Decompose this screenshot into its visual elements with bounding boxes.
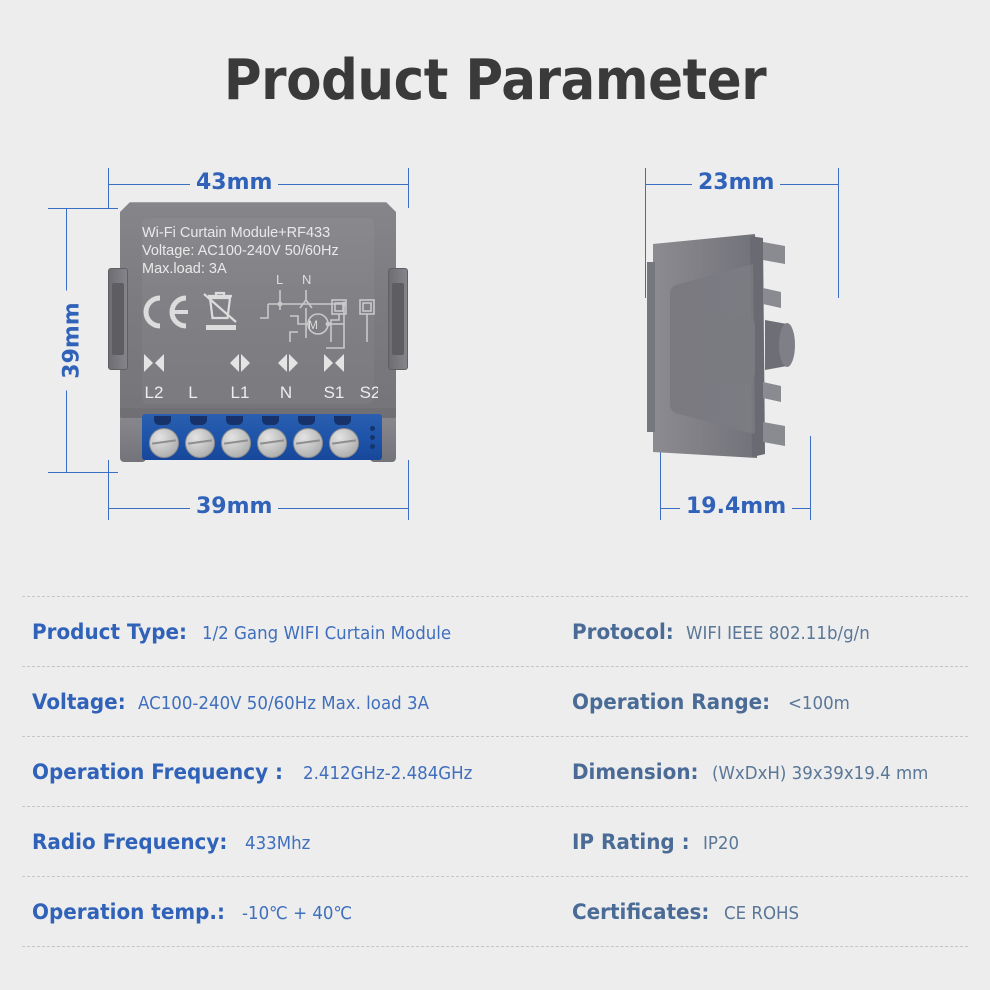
weee-bin-mark xyxy=(204,293,236,322)
spec-value: AC100-240V 50/60Hz Max. load 3A xyxy=(138,694,429,714)
dimension-label-43mm: 43mm xyxy=(190,170,278,195)
spec-value: WIFI IEEE 802.11b/g/n xyxy=(686,624,870,644)
spec-row: Product Type: 1/2 Gang WIFI Curtain Modu… xyxy=(22,596,968,666)
wire-slot xyxy=(334,416,351,425)
spec-key: Radio Frequency: xyxy=(32,830,227,854)
spec-table: Product Type: 1/2 Gang WIFI Curtain Modu… xyxy=(22,596,968,947)
side-housing-recess xyxy=(697,314,755,384)
mounting-clip-right xyxy=(388,268,408,370)
spec-key: Protocol: xyxy=(572,620,674,644)
clip-rail-left xyxy=(647,262,655,432)
spec-row: Operation Frequency : 2.412GHz-2.484GHz … xyxy=(22,736,968,806)
terminal-label-S2: S2 xyxy=(360,383,378,402)
spec-key: Dimension: xyxy=(572,760,699,784)
terminal-icon-close-S2 xyxy=(324,354,344,372)
spec-key: IP Rating : xyxy=(572,830,690,854)
wire-slot xyxy=(154,416,171,425)
spec-cell-operation-range: Operation Range: <100m xyxy=(564,690,968,714)
spec-key: Operation temp.: xyxy=(32,900,225,924)
dimension-label-23mm: 23mm xyxy=(692,170,780,195)
terminal-label-L1: L1 xyxy=(231,383,250,402)
mounting-tab-lower xyxy=(763,382,781,402)
terminal-screw xyxy=(293,428,323,458)
spec-cell-product-type: Product Type: 1/2 Gang WIFI Curtain Modu… xyxy=(22,620,564,644)
terminal-label-L: L xyxy=(188,383,197,402)
terminal-screw xyxy=(257,428,287,458)
mounting-tab-top xyxy=(763,242,785,264)
wire-slot xyxy=(226,416,243,425)
spec-value: <100m xyxy=(788,694,850,714)
dimension-extension-line xyxy=(408,460,409,520)
terminal-screw xyxy=(149,428,179,458)
wire-slot xyxy=(298,416,315,425)
spec-cell-ip-rating: IP Rating : IP20 xyxy=(564,830,968,854)
dimension-label-19-4mm: 19.4mm xyxy=(680,494,792,519)
schematic-label-motor: M xyxy=(308,318,318,332)
spec-key: Operation Frequency : xyxy=(32,760,283,784)
spec-row: Radio Frequency: 433Mhz IP Rating : IP20 xyxy=(22,806,968,876)
spec-key: Voltage: xyxy=(32,690,126,714)
wire-slot xyxy=(190,416,207,425)
spec-cell-voltage: Voltage: AC100-240V 50/60Hz Max. load 3A xyxy=(22,690,564,714)
spec-key: Operation Range: xyxy=(572,690,770,714)
spec-cell-certificates: Certificates: CE ROHS xyxy=(564,900,968,924)
terminal-block xyxy=(142,414,382,460)
terminal-icon-close-L2 xyxy=(144,354,164,372)
spec-cell-operation-frequency: Operation Frequency : 2.412GHz-2.484GHz xyxy=(22,760,564,784)
terminal-screw xyxy=(221,428,251,458)
dimension-label-39mm-width: 39mm xyxy=(190,494,278,519)
wire-slot xyxy=(262,416,279,425)
side-view xyxy=(645,202,845,492)
spec-cell-protocol: Protocol: WIFI IEEE 802.11b/g/n xyxy=(564,620,968,644)
terminal-stub-end xyxy=(779,323,795,367)
terminal-icon-open-S1 xyxy=(278,354,298,372)
terminal-label-N: N xyxy=(280,383,292,402)
spec-value: -10℃ + 40℃ xyxy=(242,904,352,924)
terminal-label-S1: S1 xyxy=(324,383,345,402)
spec-cell-radio-frequency: Radio Frequency: 433Mhz xyxy=(22,830,564,854)
spec-value: (WxDxH) 39x39x19.4 mm xyxy=(712,764,928,784)
mounting-clip-left xyxy=(108,268,128,370)
spec-cell-operation-temp: Operation temp.: -10℃ + 40℃ xyxy=(22,900,564,924)
spec-value: 433Mhz xyxy=(245,834,310,854)
label-line-model: Wi-Fi Curtain Module+RF433 xyxy=(142,224,339,242)
page-title: Product Parameter xyxy=(40,48,951,113)
spec-row: Voltage: AC100-240V 50/60Hz Max. load 3A… xyxy=(22,666,968,736)
spec-cell-dimension: Dimension: (WxDxH) 39x39x19.4 mm xyxy=(564,760,968,784)
dimension-extension-line xyxy=(408,168,409,208)
terminal-screw xyxy=(329,428,359,458)
spec-value: 2.412GHz-2.484GHz xyxy=(303,764,472,784)
mounting-tab-upper xyxy=(763,288,781,308)
schematic-label-L: L xyxy=(276,274,283,287)
spec-value: CE ROHS xyxy=(724,904,799,924)
label-line-voltage: Voltage: AC100-240V 50/60Hz xyxy=(142,242,339,260)
terminal-label-L2: L2 xyxy=(145,383,164,402)
product-diagram: 43mm 39mm 39mm Wi-Fi Curtain Module+RF43… xyxy=(0,150,990,570)
device-printed-label: Wi-Fi Curtain Module+RF433 Voltage: AC10… xyxy=(142,224,339,278)
terminal-vent-holes xyxy=(366,422,378,454)
mounting-tab-bottom xyxy=(763,422,785,446)
schematic-label-N: N xyxy=(302,274,311,287)
spec-value: 1/2 Gang WIFI Curtain Module xyxy=(202,624,451,644)
terminal-screw xyxy=(185,428,215,458)
spec-key: Product Type: xyxy=(32,620,187,644)
spec-key: Certificates: xyxy=(572,900,709,924)
spec-value: IP20 xyxy=(703,834,739,854)
front-view: Wi-Fi Curtain Module+RF433 Voltage: AC10… xyxy=(108,202,408,492)
spec-row: Operation temp.: -10℃ + 40℃ Certificates… xyxy=(22,876,968,947)
certification-marks xyxy=(138,288,258,336)
dimension-label-39mm-height: 39mm xyxy=(60,291,85,391)
weee-bar xyxy=(206,325,236,330)
terminal-labels: L2 L L1 N S1 S2 xyxy=(138,350,378,406)
terminal-icon-open-L1 xyxy=(230,354,250,372)
